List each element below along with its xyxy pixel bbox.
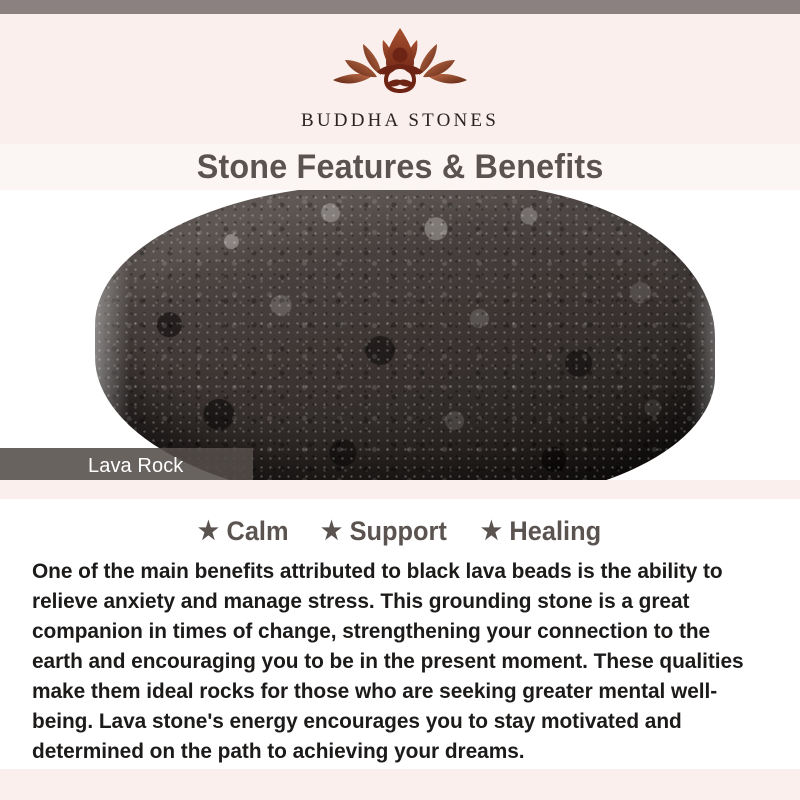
star-icon: ★ <box>198 519 219 544</box>
star-icon: ★ <box>321 519 342 544</box>
star-icon: ★ <box>481 519 502 544</box>
description-paragraph: One of the main benefits attributed to b… <box>32 556 752 766</box>
benefit-label-calm: Calm <box>226 516 288 547</box>
rock-texture-coarse <box>95 190 715 480</box>
lotus-meditation-logo-icon <box>315 22 485 108</box>
content-section: ★ Calm ★ Support ★ Healing One of the ma… <box>0 499 800 769</box>
bottom-cream-strip <box>0 769 800 800</box>
lava-rock-image <box>95 190 715 480</box>
photo-fade-right <box>690 190 800 480</box>
photo-fade-left <box>0 190 130 480</box>
brand-name: BUDDHA STONES <box>301 110 499 132</box>
benefit-item-calm: ★ Calm <box>198 516 289 547</box>
stone-photo: Lava Rock <box>0 190 800 480</box>
benefit-label-healing: Healing <box>510 516 602 547</box>
frame-band-top <box>0 0 800 14</box>
stone-name-label: Lava Rock <box>0 455 183 478</box>
benefit-list: ★ Calm ★ Support ★ Healing <box>0 499 800 547</box>
header: BUDDHA STONES Stone Features & Benefits <box>0 14 800 190</box>
page-title: Stone Features & Benefits <box>197 148 604 187</box>
benefit-label-support: Support <box>350 516 447 547</box>
brand-logo: BUDDHA STONES <box>0 22 800 132</box>
section-separator <box>0 480 800 499</box>
benefit-item-support: ★ Support <box>321 516 447 547</box>
infographic-card: BUDDHA STONES Stone Features & Benefits … <box>0 0 800 800</box>
benefit-item-healing: ★ Healing <box>481 516 601 547</box>
stone-name-badge: Lava Rock <box>0 448 253 480</box>
title-bar: Stone Features & Benefits <box>0 144 800 190</box>
